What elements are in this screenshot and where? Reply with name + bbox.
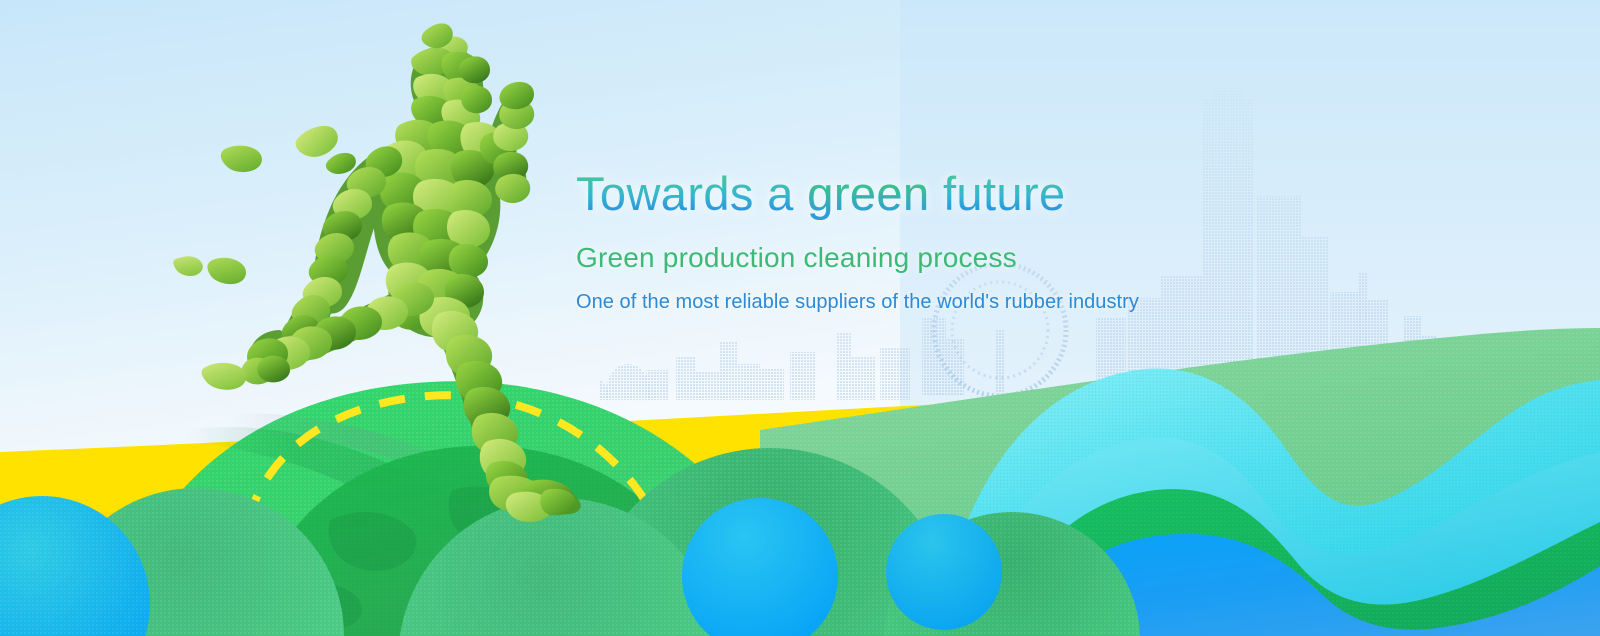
scene-illustration bbox=[0, 0, 1600, 636]
hero-banner: Towards a green future Green production … bbox=[0, 0, 1600, 636]
banner-headline: Towards a green future bbox=[576, 168, 1276, 221]
headline-text-part2: future bbox=[930, 167, 1066, 220]
blue-circle-right bbox=[886, 514, 1002, 630]
banner-caption: One of the most reliable suppliers of th… bbox=[576, 291, 1276, 314]
banner-subheadline: Green production cleaning process bbox=[576, 242, 1276, 274]
headline-text-green: green bbox=[807, 167, 929, 220]
banner-text-block: Towards a green future Green production … bbox=[576, 168, 1276, 314]
headline-text-part1: Towards a bbox=[576, 167, 807, 220]
